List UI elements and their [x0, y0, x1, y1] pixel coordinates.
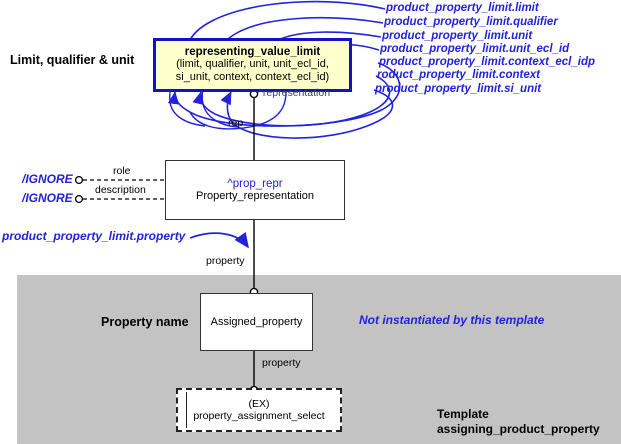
entity-params-line2: si_unit, context, context_ecl_id)	[176, 71, 329, 84]
attribute-label-context-ecl-idp: product_property_limit.context_ecl_idp	[379, 56, 595, 69]
entity-params-line1: (limit, qualifier, unit, unit_ecl_id,	[176, 58, 329, 71]
ignore-label-role: /IGNORE	[22, 173, 73, 186]
dashed-inner-rule	[186, 392, 187, 428]
entity-name-property-representation: Property_representation	[196, 190, 314, 202]
ignore-label-description: /IGNORE	[22, 192, 73, 205]
entity-name-assigned-property: Assigned_property	[211, 316, 303, 328]
entity-representing-value-limit[interactable]: representing_value_limit (limit, qualifi…	[153, 38, 352, 92]
section-caption-limit: Limit, qualifier & unit	[10, 53, 134, 67]
edge-label-role: role	[113, 166, 131, 178]
edge-label-property-upper: property	[206, 256, 245, 268]
entity-name-property-assignment-select: property_assignment_select	[193, 410, 324, 422]
attribute-label-si-unit: product_property_limit.si_unit	[375, 83, 541, 96]
edge-label-property-lower: property	[262, 358, 301, 370]
attribute-label-unit-ecl-id: product_property_limit.unit_ecl_id	[380, 43, 569, 56]
entity-assigned-property[interactable]: Assigned_property	[200, 293, 313, 351]
entity-ex-marker: (EX)	[249, 398, 270, 410]
edge-label-rep: rep	[228, 118, 243, 130]
edge-label-description: description	[95, 185, 146, 197]
attribute-label-qualifier: product_property_limit.qualifier	[384, 16, 558, 29]
template-label-name: assigning_product_property	[437, 422, 600, 437]
section-caption-property-name: Property name	[101, 315, 189, 329]
arc-property-pointer	[190, 233, 248, 247]
attribute-label-unit: product_property_limit.unit	[382, 30, 532, 43]
template-label: Template assigning_product_property	[437, 407, 600, 437]
entity-title: representing_value_limit	[185, 46, 321, 58]
edge-label-representation: ^representation	[258, 88, 330, 100]
attribute-label-context: roduct_property_limit.context	[377, 69, 540, 82]
attribute-label-property: product_property_limit.property	[2, 230, 185, 243]
template-label-word: Template	[437, 407, 600, 422]
diagram-canvas: Limit, qualifier & unit representing_val…	[0, 0, 621, 444]
entity-ref-prop-repr: ^prop_repr	[227, 178, 282, 190]
entity-property-representation[interactable]: ^prop_repr Property_representation	[165, 160, 345, 220]
attribute-label-limit: product_property_limit.limit	[386, 2, 539, 15]
edge-representation	[250, 90, 257, 160]
note-not-instantiated: Not instantiated by this template	[359, 314, 544, 327]
entity-property-assignment-select[interactable]: (EX) property_assignment_select	[176, 388, 342, 432]
